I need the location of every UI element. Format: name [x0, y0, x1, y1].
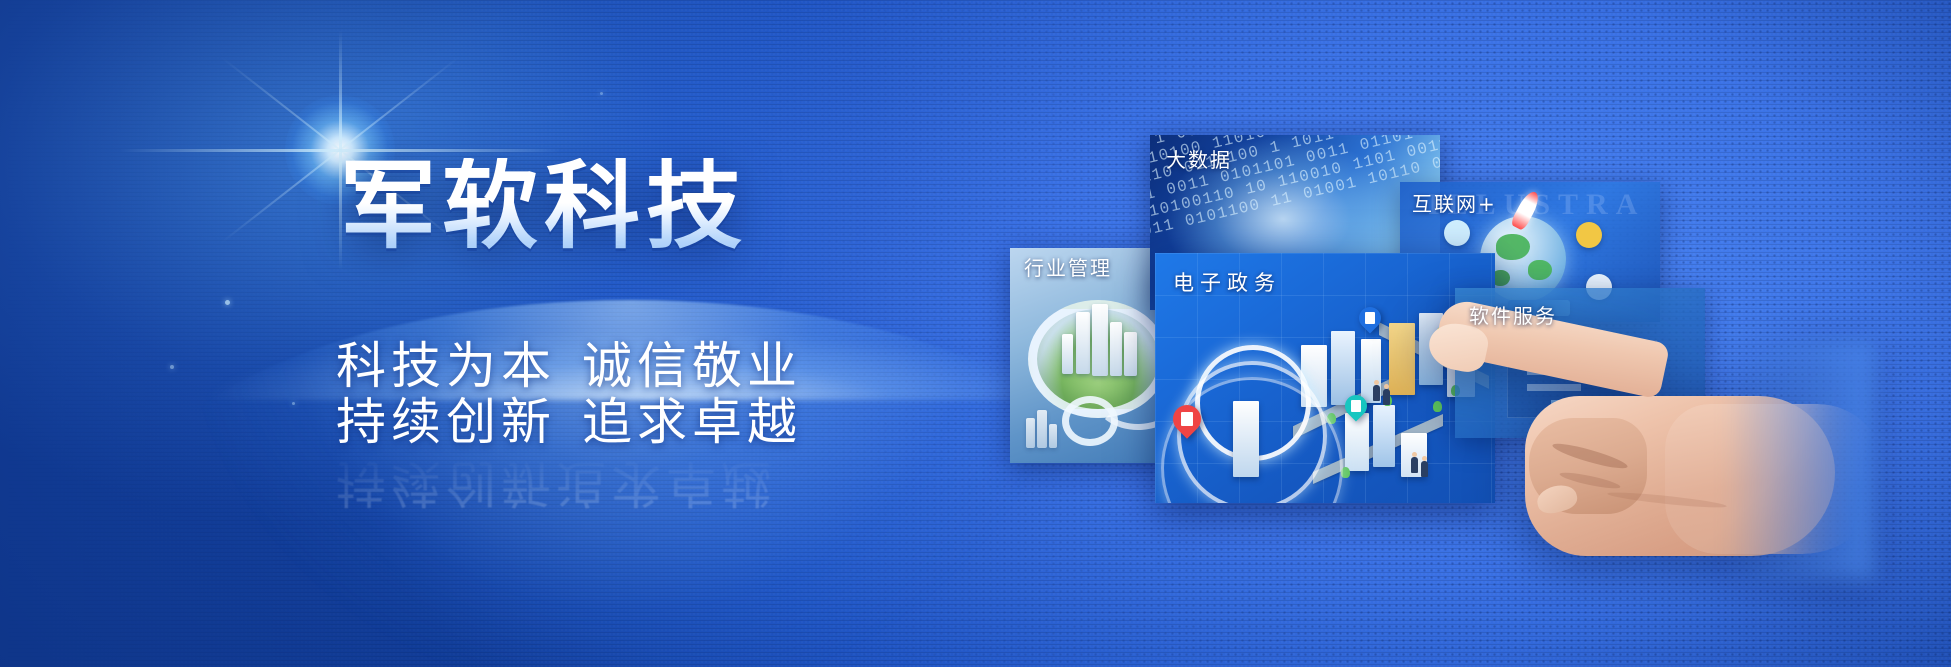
- person-figure: [1373, 385, 1380, 401]
- page-title: 军软科技: [340, 158, 748, 256]
- building-shape: [1389, 323, 1415, 395]
- brand-title-wrap: 军软科技: [340, 158, 748, 256]
- slogan-line-1: 科技为本诚信敬业: [336, 338, 802, 394]
- slogan-line-2: 持续创新追求卓越: [336, 394, 802, 450]
- spark-dot: [170, 365, 174, 369]
- panel-software-service[interactable]: 软件服务: [1455, 288, 1705, 438]
- panel-e-government[interactable]: 电子政务: [1155, 253, 1495, 503]
- person-figure: [1411, 457, 1418, 473]
- slogan-line-2-a: 持续创新: [336, 393, 556, 451]
- slogan-reflection-b: 追求卓越: [556, 454, 776, 512]
- building-shape: [1026, 418, 1035, 448]
- chat-node-icon: [1444, 220, 1470, 246]
- form-field-row: [1527, 352, 1623, 359]
- form-submit-graphic: [1551, 400, 1577, 409]
- person-figure: [1421, 461, 1428, 477]
- slogan-reflection-a: 持续创新: [336, 454, 556, 512]
- slogan-block: 科技为本诚信敬业 持续创新追求卓越: [336, 338, 802, 450]
- slogan-line-1-b: 诚信敬业: [582, 337, 802, 395]
- slogan-reflection-line: 持续创新追求卓越: [336, 455, 776, 511]
- panel-label-internet: 互联网+: [1412, 188, 1497, 217]
- building-shape: [1233, 401, 1259, 477]
- spark-dot: [292, 402, 295, 405]
- form-field-row: [1527, 384, 1581, 391]
- slogan-reflection: 持续创新追求卓越: [336, 455, 776, 511]
- hero-banner: 军软科技 科技为本诚信敬业 持续创新追求卓越 持续创新追求卓越 行业管理 010: [0, 0, 1951, 667]
- building-shape: [1092, 304, 1108, 376]
- form-field-row: [1527, 368, 1623, 375]
- building-shape: [1037, 410, 1047, 448]
- eco-loop-graphic: [1062, 396, 1118, 446]
- coin-node-icon: [1576, 222, 1602, 248]
- slogan-line-2-b: 追求卓越: [582, 393, 802, 451]
- panel-label-industry: 行业管理: [1024, 252, 1112, 281]
- spark-dot: [600, 92, 603, 95]
- building-shape: [1419, 313, 1443, 385]
- building-shape: [1373, 405, 1395, 467]
- building-shape: [1049, 424, 1057, 448]
- slogan-line-1-a: 科技为本: [336, 337, 556, 395]
- panel-label-egov: 电子政务: [1173, 267, 1281, 297]
- panel-label-bigdata: 大数据: [1166, 144, 1232, 173]
- tree-shape: [1433, 401, 1442, 412]
- building-shape: [1062, 334, 1073, 374]
- panel-label-software: 软件服务: [1469, 300, 1557, 329]
- spark-dot: [225, 300, 230, 305]
- person-figure: [1383, 389, 1390, 405]
- building-shape: [1331, 331, 1355, 405]
- building-shape: [1076, 312, 1090, 374]
- building-shape: [1345, 413, 1369, 471]
